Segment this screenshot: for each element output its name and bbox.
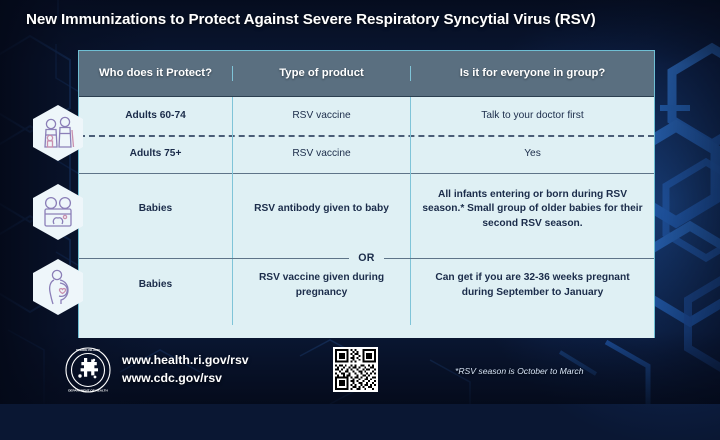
hex-badge xyxy=(33,259,83,315)
column-header-everyone: Is it for everyone in group? xyxy=(411,66,654,81)
cell-product: RSV vaccine xyxy=(233,135,411,173)
cell-everyone: All infants entering or born during RSV … xyxy=(411,173,654,246)
baby-in-crib-icon xyxy=(32,183,84,241)
table-header-row: Who does it Protect? Type of product Is … xyxy=(79,51,654,97)
older-adults-icon xyxy=(32,104,84,162)
footnote: *RSV season is October to March xyxy=(455,366,583,376)
immunization-table: Who does it Protect? Type of product Is … xyxy=(78,50,655,338)
cell-product: RSV vaccine given during pregnancy xyxy=(233,246,411,325)
cell-product: RSV antibody given to baby xyxy=(233,173,411,246)
page-title: New Immunizations to Protect Against Sev… xyxy=(26,11,706,28)
hex-badge xyxy=(33,105,83,161)
qr-code[interactable] xyxy=(333,347,378,392)
cell-who: Adults 60-74 xyxy=(79,97,233,135)
hex-badge xyxy=(33,184,83,240)
cell-everyone: Yes xyxy=(411,135,654,173)
table-row: Babies RSV vaccine given during pregnanc… xyxy=(79,246,654,325)
column-header-product: Type of product xyxy=(233,66,411,81)
rhode-island-department-of-health-seal: RHODE ISLAND DEPARTMENT OF HEALTH xyxy=(64,346,112,394)
cell-who: Babies xyxy=(79,246,233,325)
table-row: Adults 75+ RSV vaccine Yes xyxy=(79,135,654,173)
table-row: Adults 60-74 RSV vaccine Talk to your do… xyxy=(79,97,654,135)
cell-who: Babies xyxy=(79,173,233,246)
table-body: Adults 60-74 RSV vaccine Talk to your do… xyxy=(79,97,654,338)
footer-urls: www.health.ri.gov/rsv www.cdc.gov/rsv xyxy=(122,352,249,388)
url-cdc[interactable]: www.cdc.gov/rsv xyxy=(122,370,249,388)
table-row: Babies RSV antibody given to baby All in… xyxy=(79,173,654,246)
cell-everyone: Talk to your doctor first xyxy=(411,97,654,135)
cell-who: Adults 75+ xyxy=(79,135,233,173)
pregnant-person-icon xyxy=(32,258,84,316)
cell-everyone: Can get if you are 32-36 weeks pregnant … xyxy=(411,246,654,325)
column-header-who: Who does it Protect? xyxy=(79,66,233,81)
url-health-ri[interactable]: www.health.ri.gov/rsv xyxy=(122,352,249,370)
seal-text-bottom: DEPARTMENT OF HEALTH xyxy=(68,389,108,393)
cell-product: RSV vaccine xyxy=(233,97,411,135)
seal-text-top: RHODE ISLAND xyxy=(76,348,100,352)
